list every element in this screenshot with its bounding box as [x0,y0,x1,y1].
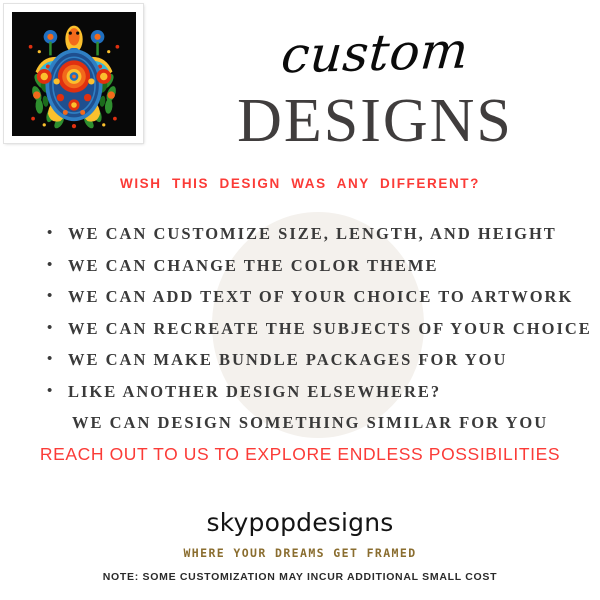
artwork-frame [4,4,143,143]
feature-list: WE CAN CUSTOMIZE SIZE, LENGTH, AND HEIGH… [44,218,589,439]
list-item: WE CAN MAKE BUNDLE PACKAGES FOR YOU [44,344,589,376]
footnote-note: NOTE: SOME CUSTOMIZATION MAY INCUR ADDIT… [0,571,600,583]
folk-art-turtle-icon [12,12,136,136]
headline-block: custom DESIGNS [150,0,600,152]
list-item: LIKE ANOTHER DESIGN ELSEWHERE? [44,376,589,408]
call-to-action-text: REACH OUT TO US TO EXPLORE ENDLESS POSSI… [0,444,600,465]
brand-tagline: WHERE YOUR DREAMS GET FRAMED [0,546,600,560]
list-item: WE CAN CHANGE THE COLOR THEME [44,250,589,282]
subheading-question: WISH THIS DESIGN WAS ANY DIFFERENT? [0,176,600,191]
brand-name: skypopdesigns [0,508,600,537]
list-item-continuation: WE CAN DESIGN SOMETHING SIMILAR FOR YOU [44,407,589,439]
list-item: WE CAN ADD TEXT OF YOUR CHOICE TO ARTWOR… [44,281,589,313]
page-title: DESIGNS [150,90,600,152]
listing-graphic-canvas: custom DESIGNS WISH THIS DESIGN WAS ANY … [0,0,600,600]
list-item: WE CAN RECREATE THE SUBJECTS OF YOUR CHO… [44,313,589,345]
script-title: custom [147,22,600,84]
list-item: WE CAN CUSTOMIZE SIZE, LENGTH, AND HEIGH… [44,218,589,250]
